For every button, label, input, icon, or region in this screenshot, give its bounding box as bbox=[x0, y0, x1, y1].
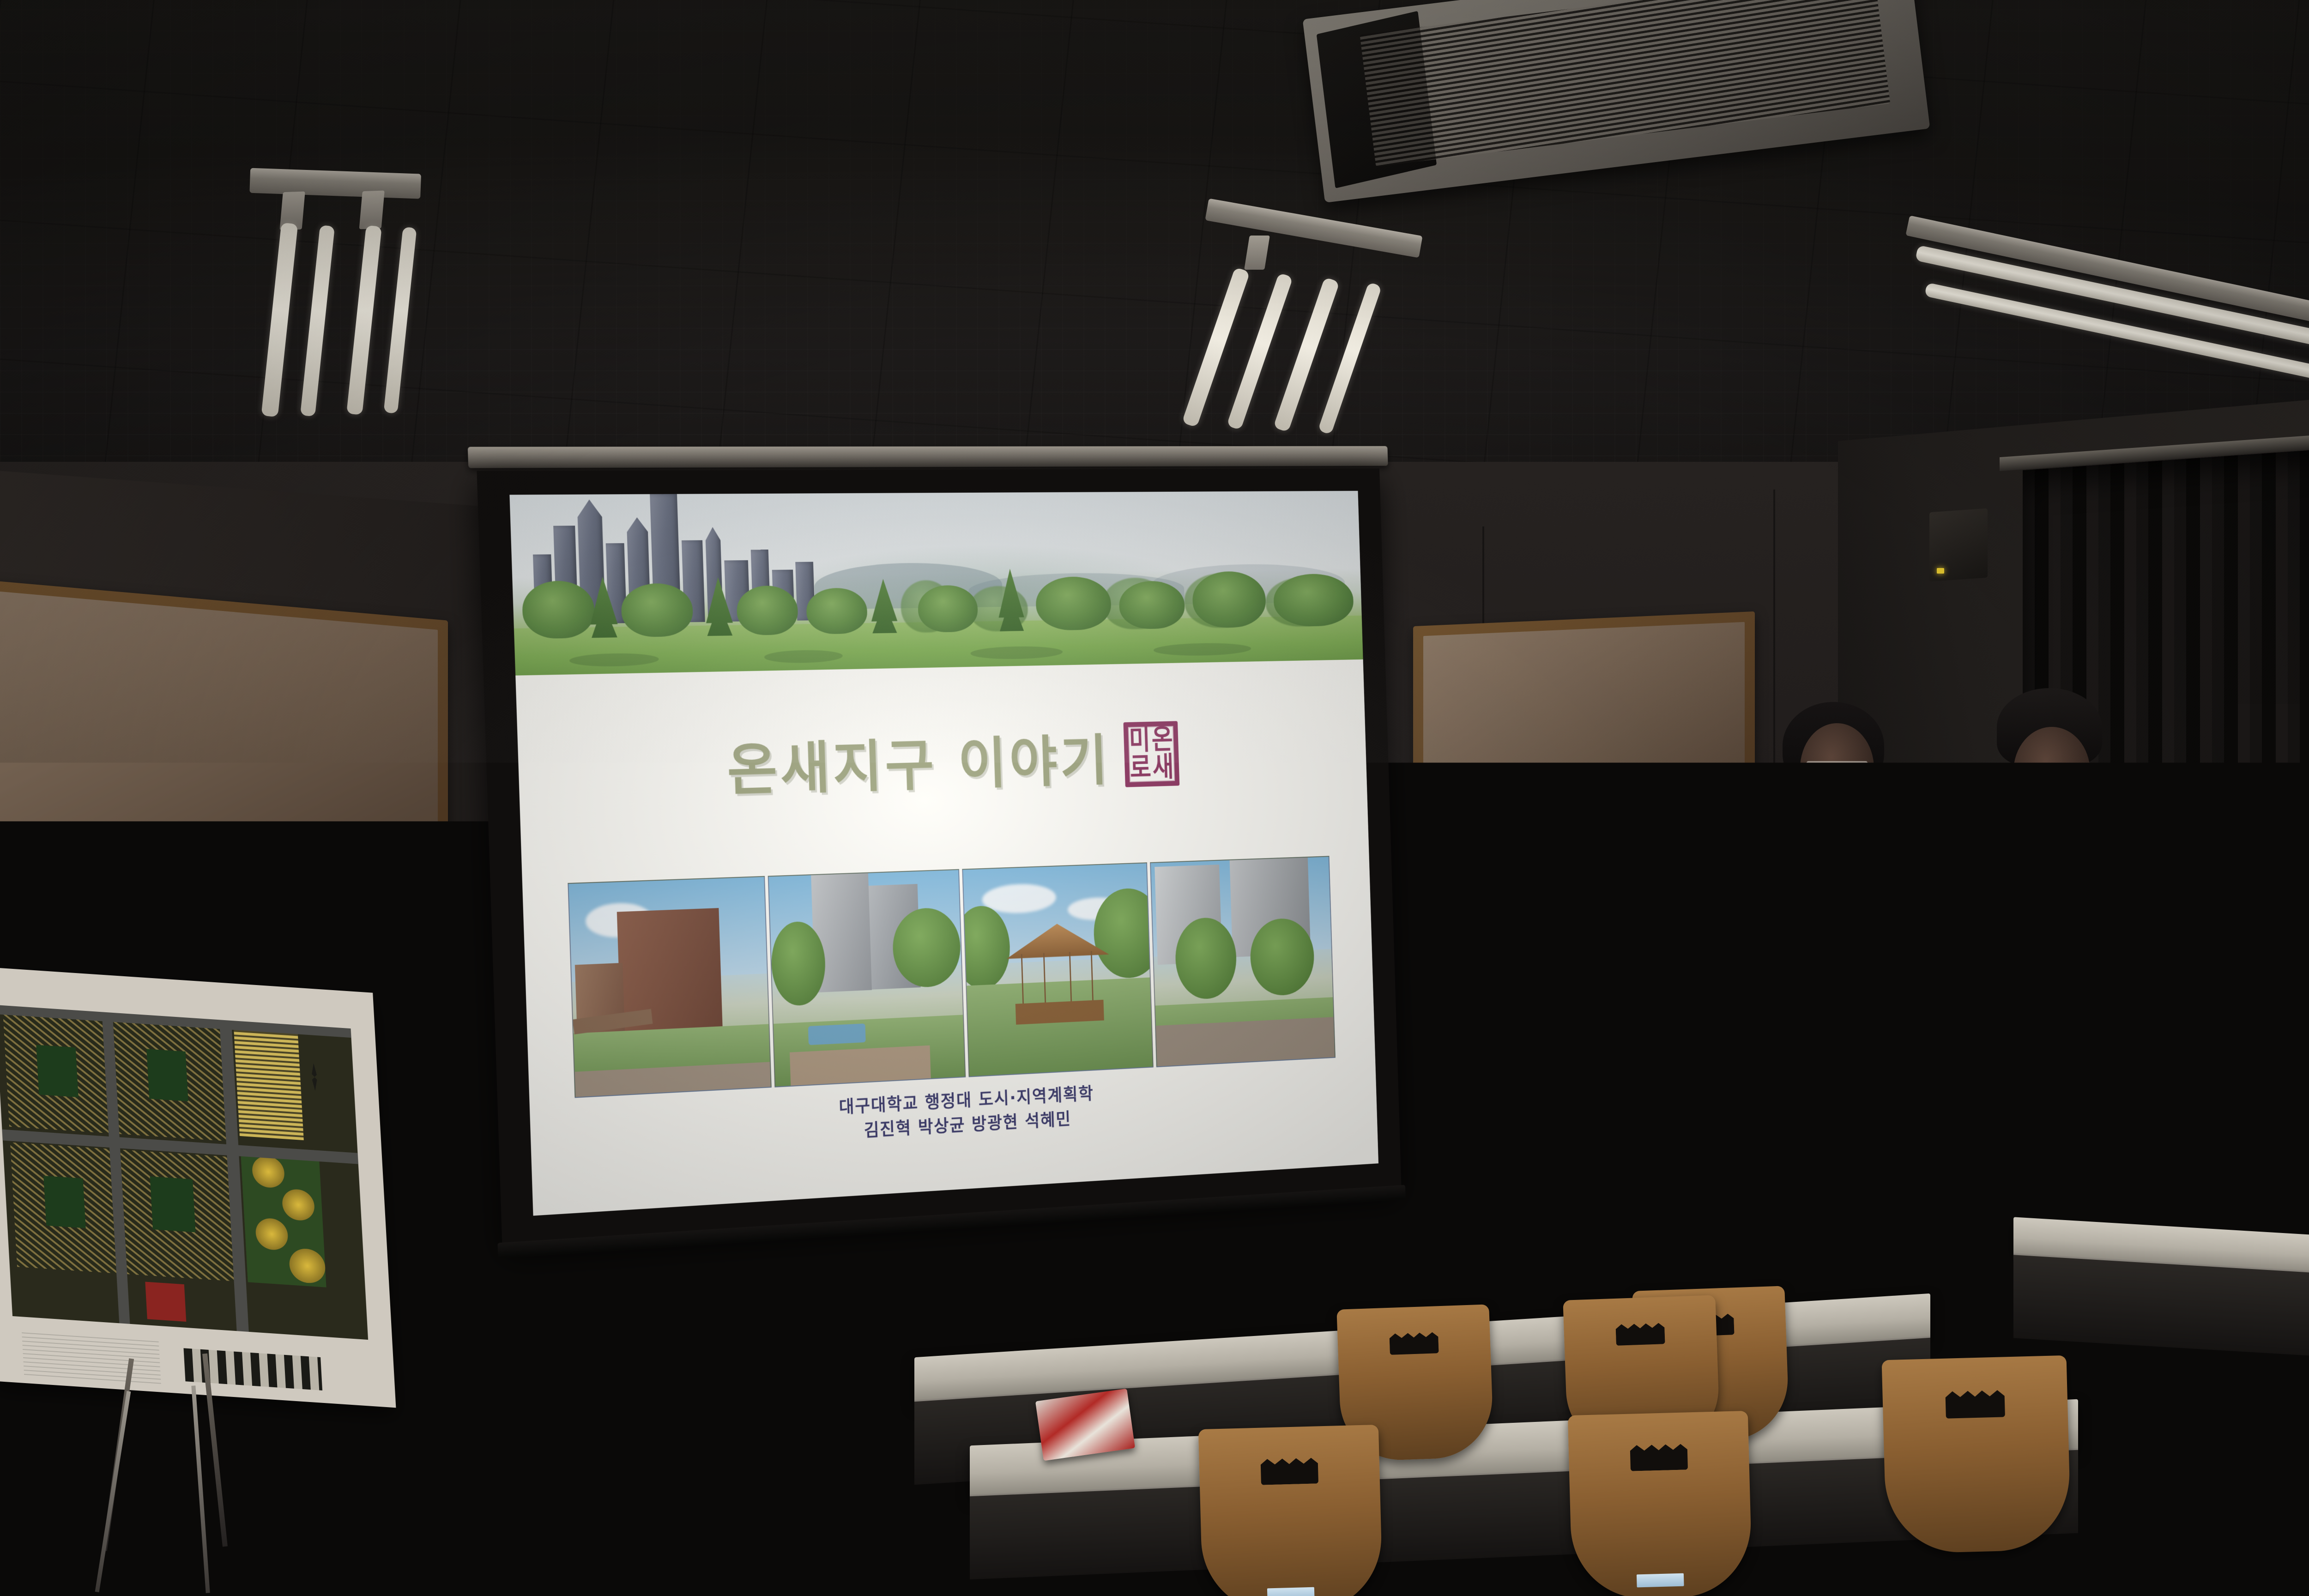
slide-banner-image bbox=[509, 491, 1363, 675]
screen-roller-housing bbox=[468, 446, 1388, 468]
chair[interactable] bbox=[1568, 1411, 1753, 1596]
chair[interactable] bbox=[1882, 1355, 2072, 1554]
chair-leg bbox=[191, 1385, 210, 1593]
poster-plan-drawing bbox=[0, 1005, 368, 1340]
chair-seat bbox=[320, 1316, 478, 1419]
fixture-mount bbox=[359, 190, 385, 229]
north-arrow-icon bbox=[303, 1063, 326, 1092]
chair-backrest bbox=[1568, 1411, 1753, 1596]
slide-title: 온새지구 이야기 bbox=[725, 715, 1111, 806]
lecture-hall-scene: 온새지구 이야기 미 온 로 새 bbox=[0, 0, 2309, 1596]
tree bbox=[1035, 576, 1112, 631]
screen-surface: 온새지구 이야기 미 온 로 새 bbox=[509, 491, 1378, 1216]
korean-seal-stamp: 미 온 로 새 bbox=[1123, 721, 1179, 787]
chair-backrest bbox=[1882, 1355, 2072, 1554]
photo-thumbnail bbox=[1150, 856, 1336, 1068]
chair-sticker bbox=[1637, 1573, 1684, 1588]
projection-screen[interactable]: 온새지구 이야기 미 온 로 새 bbox=[477, 468, 1401, 1246]
chair-sticker bbox=[1267, 1587, 1314, 1596]
lectern-label bbox=[2004, 1093, 2037, 1105]
head bbox=[2013, 727, 2090, 816]
speaker-led-indicator bbox=[1937, 568, 1944, 574]
fluorescent-tube bbox=[261, 223, 298, 417]
poster-legend bbox=[21, 1329, 161, 1384]
tree bbox=[1192, 571, 1266, 629]
chair[interactable] bbox=[598, 1356, 824, 1596]
fluorescent-tube bbox=[346, 225, 382, 415]
whiteboard-surface bbox=[1423, 622, 1745, 1031]
fluorescent-light-fixture bbox=[1196, 217, 1473, 434]
photo-thumbnail bbox=[568, 876, 772, 1098]
slide-title-row: 온새지구 이야기 미 온 로 새 bbox=[515, 659, 1369, 884]
seal-glyph-3: 로 bbox=[1130, 754, 1152, 782]
park bbox=[36, 1045, 79, 1097]
white-hoodie: MASA bbox=[1967, 804, 2152, 1039]
park bbox=[150, 1176, 196, 1232]
plaza-paving bbox=[790, 1046, 931, 1086]
photo-lawn bbox=[967, 977, 1153, 1076]
presenter-with-microphone bbox=[1750, 702, 1944, 1302]
fixture-mount bbox=[1244, 236, 1270, 270]
gazebo-platform bbox=[1015, 1000, 1104, 1025]
chair[interactable] bbox=[1198, 1425, 1383, 1596]
photo-thumbnail bbox=[768, 869, 966, 1088]
fluorescent-light-fixture bbox=[236, 168, 443, 433]
park bbox=[44, 1176, 86, 1228]
glasses-icon bbox=[1807, 761, 1868, 768]
hoodie-graphic-text: MASA bbox=[1967, 910, 2152, 941]
fluorescent-tube bbox=[300, 225, 335, 417]
chair-backrest bbox=[1198, 1425, 1383, 1596]
seal-glyph-2: 온 bbox=[1151, 726, 1173, 754]
photo-thumbnail bbox=[962, 862, 1154, 1077]
fixture-canopy bbox=[249, 168, 421, 199]
chair-leg bbox=[95, 1391, 131, 1592]
civic-facility bbox=[145, 1282, 186, 1321]
lectern-power-led bbox=[2069, 1058, 2081, 1066]
coat bbox=[2300, 813, 2309, 1034]
water-feature bbox=[808, 1023, 866, 1045]
tree bbox=[806, 588, 868, 635]
commercial-strip bbox=[234, 1030, 303, 1140]
chair[interactable] bbox=[320, 1316, 478, 1419]
snack-wrapper[interactable] bbox=[1035, 1389, 1135, 1461]
tree bbox=[1273, 574, 1354, 627]
park bbox=[146, 1049, 188, 1101]
seal-glyph-1: 미 bbox=[1129, 726, 1151, 755]
person-at-right-edge bbox=[2300, 711, 2309, 1034]
chair-backrest bbox=[598, 1356, 824, 1596]
person-in-hoodie: MASA bbox=[1967, 688, 2152, 1039]
seal-glyph-4: 새 bbox=[1152, 753, 1174, 781]
fluorescent-tube bbox=[384, 227, 417, 414]
whiteboard bbox=[1413, 611, 1755, 1042]
presentation-slide: 온새지구 이야기 미 온 로 새 bbox=[509, 491, 1378, 1216]
